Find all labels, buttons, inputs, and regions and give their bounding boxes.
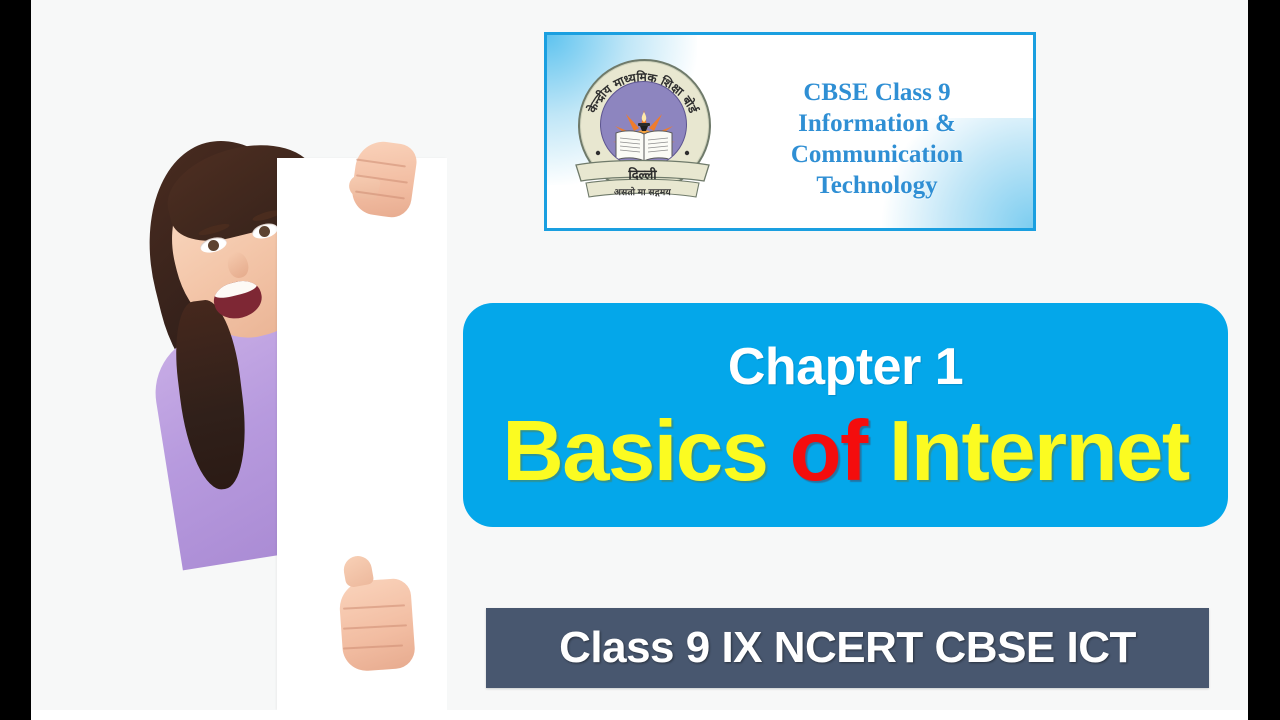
slide-canvas: केन्द्रीय माध्यमिक शिक्षा बोर्ड xyxy=(31,0,1248,710)
banner-line-2: Information & Communication xyxy=(722,108,1032,170)
pupil-right xyxy=(259,226,270,237)
chapter-title-part3: Internet xyxy=(867,404,1189,499)
pupil-left xyxy=(208,240,219,251)
banner-heading: CBSE Class 9 Information & Communication… xyxy=(722,77,1032,201)
emblem-scroll-banner: दिल्ली असतो मा सद्गमय xyxy=(570,157,715,207)
slide-frame: केन्द्रीय माध्यमिक शिक्षा बोर्ड xyxy=(0,0,1280,720)
subject-footer-text: Class 9 IX NCERT CBSE ICT xyxy=(559,626,1136,670)
emblem-inner-disc xyxy=(600,81,687,168)
letterbox-right xyxy=(1248,0,1280,720)
presenter-photo xyxy=(136,120,436,710)
cbse-header-banner: केन्द्रीय माध्यमिक शिक्षा बोर्ड xyxy=(544,32,1036,231)
chapter-title-part1: Basics xyxy=(502,404,789,499)
letterbox-left xyxy=(0,0,31,720)
scroll-text-delhi: दिल्ली xyxy=(570,165,715,183)
chapter-title-card: Chapter 1 Basics of Internet xyxy=(463,303,1228,527)
subject-footer-bar: Class 9 IX NCERT CBSE ICT xyxy=(486,608,1209,688)
chapter-title: Basics of Internet xyxy=(502,409,1188,494)
chapter-number-label: Chapter 1 xyxy=(728,341,963,393)
banner-line-3: Technology xyxy=(722,170,1032,201)
cbse-emblem: केन्द्रीय माध्यमिक शिक्षा बोर्ड xyxy=(570,57,715,212)
bottom-white-strip xyxy=(31,710,1248,720)
banner-line-1: CBSE Class 9 xyxy=(722,77,1032,108)
scroll-text-motto: असतो मा सद्गमय xyxy=(570,185,715,198)
chapter-title-part2: of xyxy=(790,404,867,499)
